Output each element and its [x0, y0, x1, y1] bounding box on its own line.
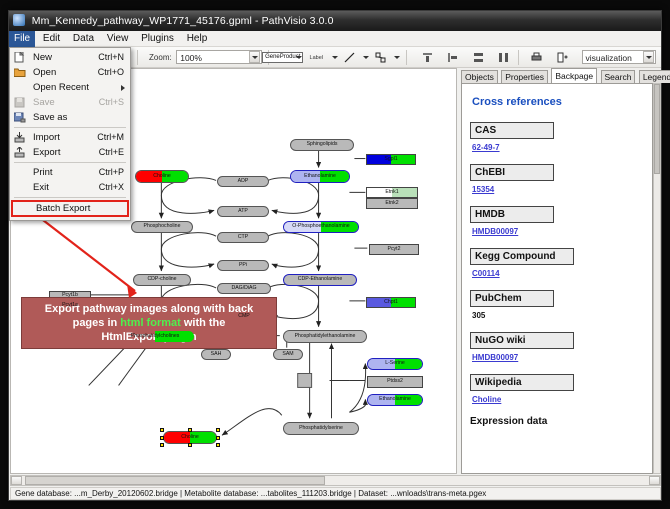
cross-reference-list: CAS62-49-7ChEBI15354HMDBHMDB00097Kegg Co… — [470, 122, 644, 404]
align-top-icon — [419, 49, 436, 66]
node-label: Pcyt2 — [388, 247, 401, 252]
file-menu-accel: Ctrl+N — [98, 50, 124, 65]
xref-header: ChEBI — [470, 164, 554, 181]
chevron-right-icon — [121, 85, 125, 91]
visualization-combo[interactable]: visualization — [582, 50, 656, 64]
gene-chpt1[interactable]: Chpt1 — [366, 297, 416, 308]
import-icon — [14, 132, 26, 143]
file-menu-item-batch-export[interactable]: Batch Export — [11, 200, 129, 217]
xref-header: HMDB — [470, 206, 554, 223]
tab-backpage[interactable]: Backpage — [551, 68, 597, 83]
callout-line-2-a: pages in — [73, 317, 121, 329]
file-menu-item-exit[interactable]: Exit Ctrl+X — [10, 180, 130, 195]
node-label: DAG/DiAG — [231, 286, 256, 291]
line-tool-button[interactable] — [341, 49, 358, 66]
open-folder-icon — [14, 67, 26, 78]
file-menu-accel: Ctrl+M — [97, 130, 124, 145]
node-label: ADP — [238, 179, 249, 184]
selection-handle[interactable] — [216, 428, 220, 432]
zoom-combo[interactable]: 100% — [176, 50, 262, 64]
node-label: Sgpl1 — [384, 157, 397, 162]
file-menu-label: Open — [33, 67, 56, 78]
file-menu-accel: Ctrl+E — [99, 145, 124, 160]
file-menu-label: Import — [33, 132, 60, 143]
file-menu-label: Save — [33, 97, 55, 108]
chevron-down-icon[interactable] — [249, 51, 260, 63]
status-bar: Gene database: ...m_Derby_20120602.bridg… — [10, 487, 661, 500]
save-icon — [14, 97, 26, 108]
backpage-content: Cross references CAS62-49-7ChEBI15354HMD… — [461, 83, 653, 474]
gene-etnk1[interactable]: Etnk1 — [366, 187, 418, 198]
chevron-down-icon[interactable] — [392, 49, 401, 66]
file-menu-accel: Ctrl+O — [98, 65, 124, 80]
file-menu-label: Export — [33, 147, 60, 158]
node-label: CDP-choline — [147, 277, 176, 282]
file-menu-item-save-as[interactable]: Save as — [10, 110, 130, 125]
side-panel-scrollbar[interactable] — [653, 83, 661, 474]
node-label: Ptdss2 — [387, 379, 403, 384]
choline-top[interactable]: Choline — [135, 170, 189, 183]
node-label: CTP — [238, 235, 248, 240]
sam[interactable]: SAM — [273, 349, 303, 360]
new-file-icon — [14, 52, 26, 63]
node-label: Choline — [153, 174, 171, 179]
node-label: L-Serine — [385, 361, 405, 366]
node-label: Phosphatidylserine — [299, 426, 343, 431]
window-title: Mm_Kennedy_pathway_WP1771_45176.gpml - P… — [32, 15, 334, 27]
callout-line-2-b: with the — [181, 317, 226, 329]
ppi[interactable]: PPi — [217, 260, 269, 271]
menu-bar: File Edit Data View Plugins Help — [9, 31, 661, 47]
file-menu-item-export[interactable]: Export Ctrl+E — [10, 145, 130, 160]
cross-references-title: Cross references — [472, 96, 644, 108]
node-label: ATP — [238, 209, 248, 214]
xref-header: PubChem — [470, 290, 554, 307]
selection-handle[interactable] — [160, 443, 164, 447]
adp[interactable]: ADP — [217, 176, 269, 187]
node-label: Etnk1 — [385, 190, 398, 195]
node-label: CDP-Ethanolamine — [298, 277, 342, 282]
selection-handle[interactable] — [188, 428, 192, 432]
file-menu-item-save: Save Ctrl+S — [10, 95, 130, 110]
node-label: SAM — [282, 352, 293, 357]
phosphatidylethanolamine[interactable]: Phosphatidylethanolamine — [283, 330, 367, 343]
toolbar-separator — [137, 50, 138, 65]
title-bar: Mm_Kennedy_pathway_WP1771_45176.gpml - P… — [9, 11, 661, 31]
cdp-choline[interactable]: CDP-choline — [133, 274, 191, 286]
tab-objects[interactable]: Objects — [461, 70, 498, 83]
node-label: Phosphocholine — [144, 224, 181, 229]
scrollbar-thumb[interactable] — [654, 84, 660, 174]
o-phosphoethanolamine[interactable]: O-Phosphoethanolamine — [283, 221, 359, 233]
side-panel-tabs: Objects Properties Backpage Search Legen… — [461, 68, 661, 83]
backpage-button[interactable] — [554, 49, 571, 66]
label-tool-button[interactable]: Label — [305, 49, 327, 66]
menu-edit[interactable]: Edit — [38, 31, 65, 47]
selection-handle[interactable] — [216, 436, 220, 440]
file-menu-separator — [14, 197, 126, 198]
file-menu-separator — [14, 162, 126, 163]
menu-help[interactable]: Help — [182, 31, 213, 47]
scroll-right-button[interactable] — [649, 476, 660, 485]
file-menu-separator — [14, 127, 126, 128]
label-tool-label: Label — [310, 55, 323, 61]
phosphocholine[interactable]: Phosphocholine — [131, 221, 193, 233]
ethanolamine-top[interactable]: Ethanolamine — [290, 170, 350, 183]
zoom-value: 100% — [177, 51, 205, 65]
file-menu-accel: Ctrl+X — [99, 180, 124, 195]
chevron-down-icon[interactable] — [643, 51, 654, 63]
pathvisio-window: Mm_Kennedy_pathway_WP1771_45176.gpml - P… — [8, 10, 662, 501]
sah[interactable]: SAH — [201, 349, 231, 360]
xref-header: CAS — [470, 122, 554, 139]
menu-plugins[interactable]: Plugins — [136, 31, 179, 47]
xref-link[interactable]: 15354 — [472, 185, 644, 194]
export-icon — [14, 147, 26, 158]
annotation-callout: Export pathway images along with back pa… — [21, 297, 277, 349]
gene-ptdss2[interactable]: Ptdss2 — [367, 376, 423, 388]
selection-handle[interactable] — [188, 443, 192, 447]
callout-highlight: html format — [120, 317, 181, 329]
align-columns-icon — [495, 49, 512, 66]
selection-handle[interactable] — [160, 436, 164, 440]
node-label: Pcyt1a — [62, 303, 78, 308]
sphingolipids[interactable]: Sphingolipids — [290, 139, 354, 151]
xref-link[interactable]: HMDB00097 — [472, 227, 644, 236]
file-menu-item-print[interactable]: Print Ctrl+P — [10, 165, 130, 180]
side-panel: Objects Properties Backpage Search Legen… — [461, 68, 661, 474]
atp[interactable]: ATP — [217, 206, 269, 217]
tab-legend[interactable]: Legend — [639, 70, 670, 83]
save-as-icon — [14, 112, 26, 123]
file-menu-accel: Ctrl+P — [99, 165, 124, 180]
align-left-button[interactable] — [444, 49, 461, 66]
file-menu-item-open-recent[interactable]: Open Recent — [10, 80, 130, 95]
xref-link[interactable]: C00114 — [472, 269, 644, 278]
geneproduct-tool-button[interactable]: GeneProduct — [274, 49, 291, 66]
receptor-tool-button[interactable] — [372, 49, 389, 66]
node-label: Ethanolamine — [379, 397, 411, 402]
align-top-button[interactable] — [419, 49, 436, 66]
file-menu-item-open[interactable]: Open Ctrl+O — [10, 65, 130, 80]
align-stack-icon — [470, 49, 487, 66]
tab-search[interactable]: Search — [601, 70, 636, 83]
ethanolamine-bottom[interactable]: Ethanolamine — [367, 394, 423, 406]
gene-etnk2[interactable]: Etnk2 — [366, 198, 418, 209]
node-label: SAH — [211, 352, 222, 357]
line-icon — [341, 49, 358, 66]
cdp-ethanolamine[interactable]: CDP-Ethanolamine — [283, 274, 357, 286]
file-menu-item-new[interactable]: New Ctrl+N — [10, 50, 130, 65]
node-label: Etnk2 — [385, 201, 398, 206]
toolbar-separator — [518, 50, 519, 65]
gene-sgpl1[interactable]: Sgpl1 — [366, 154, 416, 165]
node-label: Choline — [181, 435, 199, 440]
file-menu-label: Exit — [33, 182, 49, 193]
tab-properties[interactable]: Properties — [501, 70, 548, 83]
menu-file[interactable]: File — [9, 31, 35, 47]
xref-header: Kegg Compound — [470, 248, 574, 265]
node-label: Sphingolipids — [307, 142, 338, 147]
selection-handle[interactable] — [216, 443, 220, 447]
file-menu-label: Open Recent — [33, 82, 89, 93]
node-label: Ethanolamine — [304, 174, 336, 179]
align-columns-button[interactable] — [495, 49, 512, 66]
node-label: Chpt1 — [384, 300, 398, 305]
align-stack-button[interactable] — [470, 49, 487, 66]
xref-link[interactable]: Choline — [472, 395, 644, 404]
dag-diag[interactable]: DAG/DiAG — [217, 283, 271, 294]
node-label: Phosphatidylethanolamine — [295, 334, 356, 339]
node-label: CMP — [238, 314, 250, 319]
scrollbar-thumb[interactable] — [25, 476, 325, 485]
ctp[interactable]: CTP — [217, 232, 269, 243]
toolbar-separator — [406, 50, 407, 65]
menu-data[interactable]: Data — [68, 31, 99, 47]
file-menu-popup: New Ctrl+N Open Ctrl+O Open Recent Save … — [9, 47, 131, 221]
file-menu-item-import[interactable]: Import Ctrl+M — [10, 130, 130, 145]
chevron-down-icon[interactable] — [361, 49, 370, 66]
xref-value: 305 — [472, 311, 644, 320]
backpage-icon — [554, 49, 571, 66]
print-icon — [528, 49, 545, 66]
chevron-down-icon[interactable] — [330, 49, 339, 66]
visualization-value: visualization — [583, 51, 635, 65]
node-label: Pcyt1b — [62, 293, 78, 298]
callout-line-2: pages in html format with the — [28, 316, 270, 330]
xref-header: NuGO wiki — [470, 332, 574, 349]
menu-view[interactable]: View — [102, 31, 134, 47]
screenshot-frame: Mm_Kennedy_pathway_WP1771_45176.gpml - P… — [0, 0, 670, 509]
expression-data-title: Expression data — [470, 416, 644, 427]
file-menu-label: Save as — [33, 112, 67, 123]
phosphatidylserine[interactable]: Phosphatidylserine — [283, 422, 359, 435]
l-serine[interactable]: L-Serine — [367, 358, 423, 370]
pathvisio-icon — [13, 14, 25, 26]
zoom-label: Zoom: — [143, 47, 174, 68]
node-label: Phosphatidylcholines — [131, 334, 180, 339]
chevron-down-icon[interactable] — [294, 49, 303, 66]
file-menu-label: Batch Export — [36, 203, 90, 214]
xref-link[interactable]: HMDB00097 — [472, 353, 644, 362]
node-label: PPi — [239, 263, 247, 268]
selection-handle[interactable] — [160, 428, 164, 432]
receptor-icon — [372, 49, 389, 66]
file-menu-label: Print — [33, 167, 53, 178]
scroll-left-button[interactable] — [11, 476, 22, 485]
gene-pcyt2[interactable]: Pcyt2 — [369, 244, 419, 255]
xref-link[interactable]: 62-49-7 — [472, 143, 644, 152]
align-left-icon — [444, 49, 461, 66]
file-menu-accel: Ctrl+S — [99, 95, 124, 110]
print-button[interactable] — [528, 49, 545, 66]
file-menu-label: New — [33, 52, 52, 63]
xref-header: Wikipedia — [470, 374, 574, 391]
node-label: O-Phosphoethanolamine — [292, 224, 349, 229]
horizontal-scrollbar[interactable] — [10, 475, 661, 486]
